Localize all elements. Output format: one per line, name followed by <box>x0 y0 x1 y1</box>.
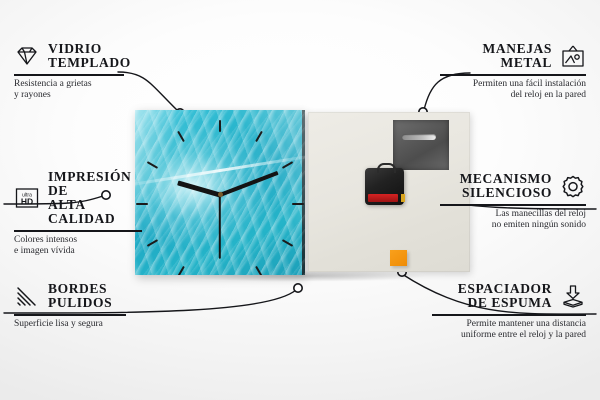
clock-tick <box>292 203 304 205</box>
callout-rule <box>14 314 126 316</box>
callout-subtitle: Permite mantener una distancia uniforme … <box>432 319 586 342</box>
callout-rule <box>440 204 586 206</box>
foam-spacer-pad <box>390 250 407 266</box>
clock-tick <box>282 161 293 169</box>
clock-center-pin <box>218 192 223 197</box>
foam-spacer-icon <box>560 284 586 308</box>
clock-tick <box>177 131 185 142</box>
hanger-slot <box>402 134 436 140</box>
diamond-icon <box>14 44 40 68</box>
clock-minute-hand <box>219 170 278 196</box>
callout-title: IMPRESIÓN DE ALTA CALIDAD <box>48 170 154 226</box>
clock-tick <box>255 266 263 275</box>
quartz-mechanism-box <box>365 168 404 205</box>
clock-second-hand <box>219 194 221 258</box>
metal-hanger-plate <box>393 120 449 170</box>
clock-tick <box>255 131 263 142</box>
clock-tick <box>219 120 221 132</box>
gear-icon <box>560 174 586 198</box>
callout-subtitle: Colores intensos e imagen vívida <box>14 235 154 258</box>
callout-rule <box>440 74 586 76</box>
callout-rule <box>14 230 142 232</box>
callout-title: VIDRIO TEMPLADO <box>48 42 131 70</box>
callout-rule <box>432 314 586 316</box>
callout-subtitle: Resistencia a grietas y rayones <box>14 79 144 102</box>
callout-title: MECANISMO SILENCIOSO <box>460 172 552 200</box>
ultra-hd-icon: ultra HD <box>14 186 40 210</box>
callout-title: ESPACIADOR DE ESPUMA <box>458 282 552 310</box>
infographic-canvas: VIDRIO TEMPLADO Resistencia a grietas y … <box>0 0 600 400</box>
callout-impresion-alta-calidad: ultra HD IMPRESIÓN DE ALTA CALIDAD Color… <box>14 170 154 258</box>
mechanism-hook <box>377 163 396 173</box>
clock-tick <box>177 266 185 275</box>
callout-title: BORDES PULIDOS <box>48 282 112 310</box>
picture-frame-icon <box>560 44 586 68</box>
callout-subtitle: Las manecillas del reloj no emiten ningú… <box>440 209 586 232</box>
callout-subtitle: Permiten una fácil instalación del reloj… <box>440 79 586 102</box>
svg-text:HD: HD <box>21 197 33 207</box>
callout-bordes-pulidos: BORDES PULIDOS Superficie lisa y segura <box>14 282 144 330</box>
battery <box>368 194 398 202</box>
clock-tick <box>282 239 293 247</box>
callout-mecanismo-silencioso: MECANISMO SILENCIOSO Las manecillas del … <box>440 172 586 232</box>
clock-front-face <box>135 110 305 275</box>
clock-hour-hand <box>177 180 221 196</box>
callout-manejas-metal: MANEJAS METAL Permiten una fácil instala… <box>440 42 586 102</box>
callout-rule <box>14 74 124 76</box>
clock-tick <box>147 161 158 169</box>
callout-espaciador-espuma: ESPACIADOR DE ESPUMA Permite mantener un… <box>432 282 586 342</box>
battery-terminal <box>401 194 405 202</box>
callout-vidrio-templado: VIDRIO TEMPLADO Resistencia a grietas y … <box>14 42 144 102</box>
callout-subtitle: Superficie lisa y segura <box>14 319 144 331</box>
polished-edge-icon <box>14 284 40 308</box>
callout-title: MANEJAS METAL <box>483 42 552 70</box>
